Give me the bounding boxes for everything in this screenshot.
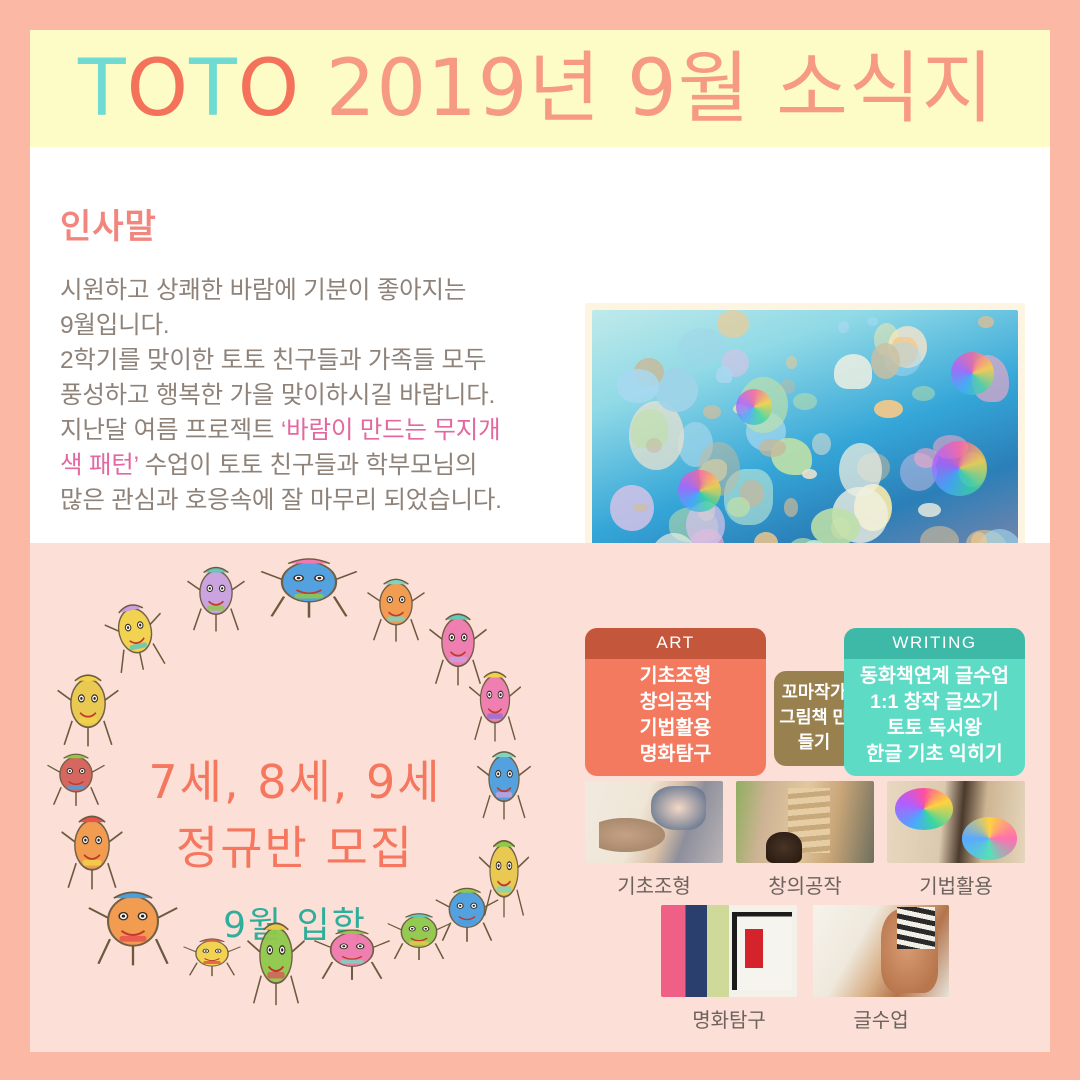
photo-caption: 창의공작: [736, 870, 874, 899]
princess-teal-drawing: [185, 561, 247, 633]
mobile-hanging-piece: [617, 369, 659, 402]
photo-caption: 기초조형: [585, 870, 723, 899]
mobile-hanging-piece: [716, 366, 733, 383]
greeting-line-1: 시원하고 상쾌한 바람에 기분이 좋아지는: [60, 273, 560, 308]
program-art-items: 기초조형 창의공작 기법활용 명화탐구: [585, 659, 766, 776]
rocket-fish-drawing: [45, 749, 107, 807]
program-middle-line: 그림책 만들기: [778, 705, 850, 755]
photo-row-2: 명화탐구 글수업: [585, 905, 1025, 1033]
photo-caption: 글수업: [813, 1004, 949, 1033]
class-photo-writing: [813, 905, 949, 997]
mobile-hanging-piece: [717, 310, 749, 337]
mobile-hanging-piece: [703, 405, 721, 419]
newsletter-page: TOTO 2019년 9월 소식지 인사말 시원하고 상쾌한 바람에 기분이 좋…: [0, 0, 1080, 1080]
mobile-hanging-piece: [678, 328, 727, 367]
mobile-pattern-disc: [932, 441, 987, 496]
mobile-hanging-piece: [912, 386, 935, 402]
mobile-hanging-piece: [871, 343, 900, 379]
greeting-section: 인사말 시원하고 상쾌한 바람에 기분이 좋아지는 9월입니다. 2학기를 맞이…: [30, 147, 1050, 543]
greeting-line-5-highlight: ‘바람이 만드는 무지개: [281, 417, 501, 444]
photo-caption: 명화탐구: [661, 1004, 797, 1033]
yellow-alien-drawing: [365, 573, 427, 643]
greeting-line-6-highlight: 색 패턴’: [60, 452, 138, 479]
photo-cell: 창의공작: [736, 781, 874, 899]
kid-drawings-circle: 7세, 8세, 9세 정규반 모집 9월 입학: [45, 553, 545, 1038]
program-art-header: ART: [585, 628, 766, 659]
mobile-hanging-piece: [759, 439, 786, 457]
program-writing-header: WRITING: [844, 628, 1025, 659]
program-boxes: ART 기초조형 창의공작 기법활용 명화탐구 꼬마작가 그림책 만들기 WRI…: [585, 628, 1025, 761]
mobile-hanging-piece: [793, 393, 817, 409]
program-art-item: 기법활용: [585, 715, 766, 741]
page-title: TOTO 2019년 9월 소식지: [78, 50, 994, 128]
greeting-line-6: 색 패턴’ 수업이 토토 친구들과 학부모님의: [60, 448, 560, 483]
white-cat-drawing: [467, 665, 523, 743]
class-photo-creative-craft: [736, 781, 874, 863]
class-photo-basic-form: [585, 781, 723, 863]
greeting-line-5: 지난달 여름 프로젝트 ‘바람이 만드는 무지개: [60, 413, 560, 448]
photo-cell: 명화탐구: [661, 905, 797, 1033]
program-writing-item: 1:1 창작 글쓰기: [844, 689, 1025, 715]
greeting-line-3: 2학기를 맞이한 토토 친구들과 가족들 모두: [60, 343, 560, 378]
class-photo-masterpiece: [661, 905, 797, 997]
mobile-hanging-piece: [812, 433, 830, 455]
title-letter-o2: O: [238, 44, 300, 134]
mobile-hanging-piece: [838, 321, 849, 334]
mobile-hanging-piece: [834, 354, 872, 389]
program-writing-item: 한글 기초 익히기: [844, 741, 1025, 767]
ghost-red-drawing: [311, 925, 393, 981]
title-letter-t2: T: [189, 44, 238, 134]
title-letter-o1: O: [127, 44, 189, 134]
mobile-hanging-piece: [802, 469, 818, 480]
program-box-middle: 꼬마작가 그림책 만들기: [774, 671, 854, 766]
program-middle-line: 꼬마작가: [778, 680, 850, 705]
title-rest-text: 2019년 9월 소식지: [326, 44, 995, 134]
programs-section: 7세, 8세, 9세 정규반 모집 9월 입학 ART 기초조형 창의공작 기법…: [30, 543, 1050, 1052]
program-writing-item: 토토 독서왕: [844, 715, 1025, 741]
red-bug-drawing: [55, 668, 121, 748]
rainbow-bug-drawing: [257, 553, 361, 619]
class-photo-technique: [887, 781, 1025, 863]
greeting-line-5-plain: 지난달 여름 프로젝트: [60, 417, 281, 444]
cup-friends-drawing: [85, 885, 181, 967]
mobile-hanging-piece: [918, 503, 941, 518]
greeting-line-4: 풍성하고 행복한 가을 맞이하시길 바랍니다.: [60, 378, 560, 413]
peacock-drawing: [475, 745, 533, 821]
mobile-hanging-piece: [867, 317, 878, 325]
mobile-hanging-piece: [784, 498, 798, 516]
program-writing-item: 동화책연계 글수업: [844, 663, 1025, 689]
photo-cell: 기법활용: [887, 781, 1025, 899]
newsletter-card: TOTO 2019년 9월 소식지 인사말 시원하고 상쾌한 바람에 기분이 좋…: [30, 30, 1050, 1052]
photo-caption: 기법활용: [887, 870, 1025, 899]
photo-cell: 글수업: [813, 905, 949, 1033]
program-art-item: 창의공작: [585, 689, 766, 715]
program-writing-items: 동화책연계 글수업 1:1 창작 글쓰기 토토 독서왕 한글 기초 익히기: [844, 659, 1025, 776]
greeting-body: 시원하고 상쾌한 바람에 기분이 좋아지는 9월입니다. 2학기를 맞이한 토토…: [60, 273, 560, 518]
dog-yellow-drawing: [385, 909, 453, 961]
program-box-writing: WRITING 동화책연계 글수업 1:1 창작 글쓰기 토토 독서왕 한글 기…: [844, 628, 1025, 776]
mobile-pattern-disc: [678, 470, 720, 512]
bird-yellow-drawing: [98, 592, 174, 677]
greeting-line-7: 많은 관심과 호응속에 잘 마무리 되었습니다.: [60, 483, 560, 518]
title-letter-t1: T: [78, 44, 127, 134]
mobile-pattern-disc: [951, 352, 994, 395]
header-band: TOTO 2019년 9월 소식지: [30, 30, 1050, 147]
greeting-heading: 인사말: [60, 199, 157, 248]
mobile-hanging-piece: [786, 356, 796, 369]
mobile-hanging-piece: [874, 400, 903, 419]
greeting-line-2: 9월입니다.: [60, 308, 560, 343]
program-art-item: 명화탐구: [585, 741, 766, 767]
photo-cell: 기초조형: [585, 781, 723, 899]
program-art-item: 기초조형: [585, 663, 766, 689]
greeting-line-6-plain: 수업이 토토 친구들과 학부모님의: [138, 452, 477, 479]
fairy-drawing: [59, 809, 125, 891]
class-photo-grid: 기초조형 창의공작 기법활용 명화탐구: [585, 781, 1025, 1039]
mobile-hanging-piece: [978, 316, 994, 328]
program-box-art: ART 기초조형 창의공작 기법활용 명화탐구: [585, 628, 766, 776]
photo-row-1: 기초조형 창의공작 기법활용: [585, 781, 1025, 899]
recruit-line-1: 7세, 8세, 9세: [45, 749, 545, 815]
turtle-drawing: [181, 935, 243, 977]
title-rest: 2019년 9월 소식지: [300, 44, 994, 134]
mobile-hanging-piece: [839, 443, 883, 497]
pink-girl-drawing: [245, 915, 307, 1007]
